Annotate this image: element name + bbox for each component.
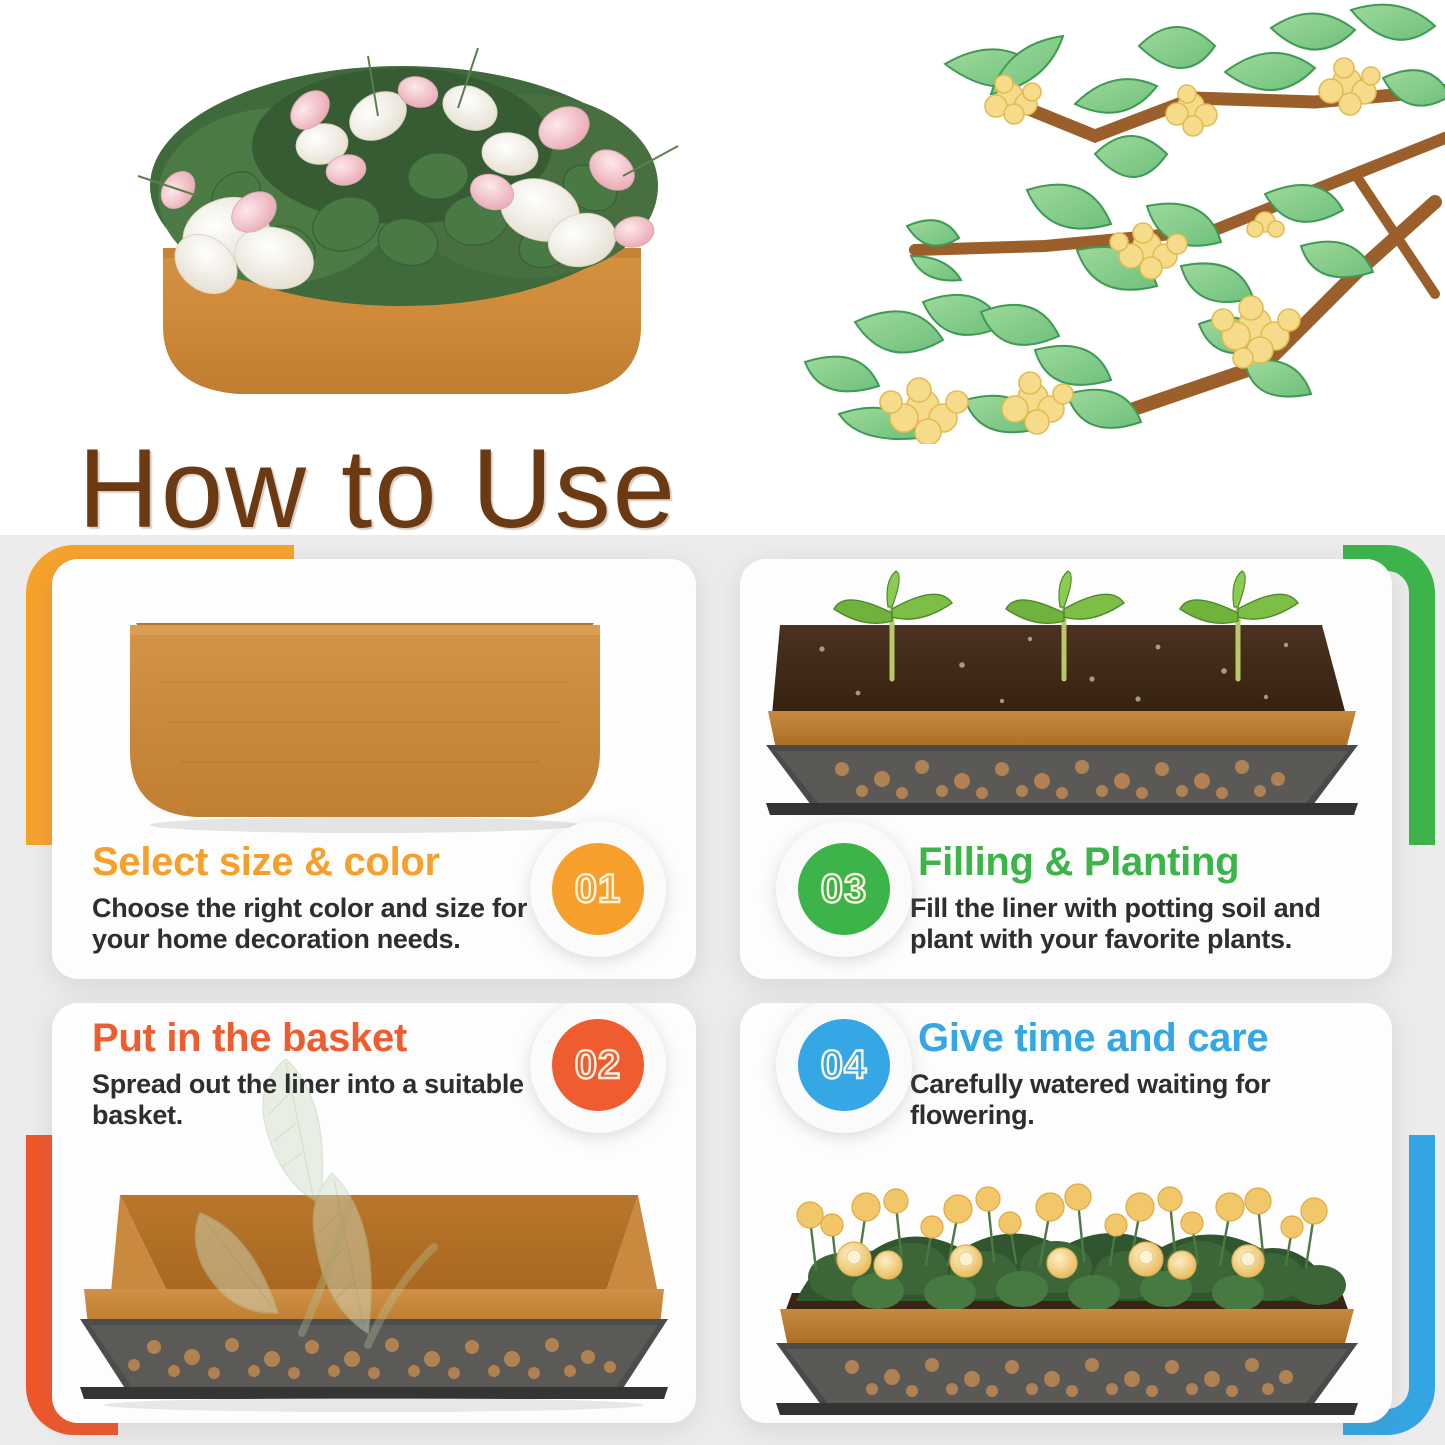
steps-panel: Select size & color Choose the right col… <box>0 535 1445 1445</box>
step-03-number: 03 <box>798 843 890 935</box>
hero-header: How to Use <box>0 0 1445 535</box>
step-04-heading: Give time and care <box>918 1017 1268 1059</box>
planter-with-soil-and-seedlings-image <box>762 569 1372 821</box>
step-card-04[interactable]: 04 Give time and care Carefully watered … <box>740 1003 1392 1423</box>
step-card-03[interactable]: 03 Filling & Planting Fill the liner wit… <box>740 559 1392 979</box>
step-card-02[interactable]: Put in the basket Spread out the liner i… <box>52 1003 696 1423</box>
step-03-body: Fill the liner with potting soil and pla… <box>910 893 1380 955</box>
step-03-heading: Filling & Planting <box>918 841 1239 883</box>
step-card-01[interactable]: Select size & color Choose the right col… <box>52 559 696 979</box>
planter-with-blooming-yellow-roses-image <box>762 1153 1372 1419</box>
step-01-body: Choose the right color and size for your… <box>92 893 562 955</box>
hero-planter-photo <box>78 0 726 414</box>
step-04-badge: 04 <box>776 1003 912 1133</box>
step-01-badge: 01 <box>530 821 666 957</box>
step-04-body: Carefully watered waiting for flowering. <box>910 1069 1370 1131</box>
step-02-heading: Put in the basket <box>92 1017 407 1059</box>
step-02-badge: 02 <box>530 1003 666 1133</box>
step-01-number: 01 <box>552 843 644 935</box>
step-03-badge: 03 <box>776 821 912 957</box>
step-04-number: 04 <box>798 1019 890 1111</box>
osmanthus-branch-illustration <box>795 0 1445 444</box>
empty-terracotta-liner-image <box>100 601 630 841</box>
step-02-number: 02 <box>552 1019 644 1111</box>
step-02-body: Spread out the liner into a suitable bas… <box>92 1069 552 1131</box>
step-01-heading: Select size & color <box>92 841 440 883</box>
page-title: How to Use <box>78 424 677 535</box>
